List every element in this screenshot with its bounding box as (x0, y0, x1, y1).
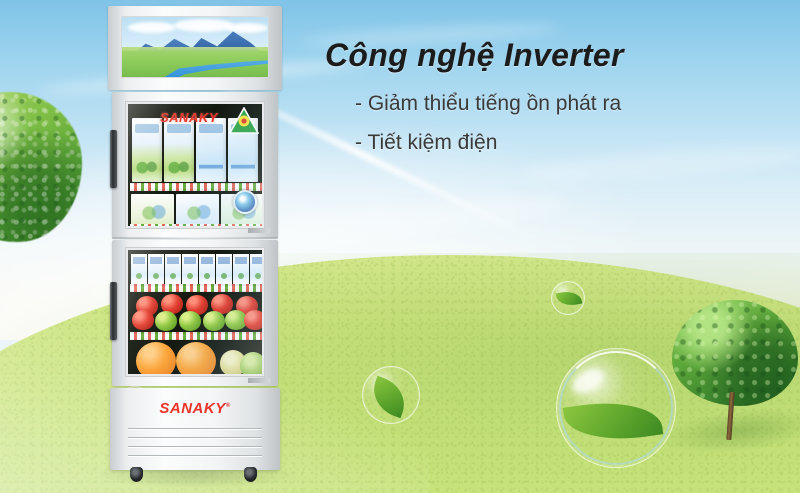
shelf-price-strip (130, 332, 264, 340)
model-label (248, 378, 270, 383)
broccoli (240, 352, 264, 376)
bubble-with-leaf-icon (551, 281, 585, 315)
upper-door-glass: SANAKY (126, 102, 264, 228)
yogurt-tray (131, 194, 174, 228)
shelf-price-strip (130, 284, 264, 292)
feature-item: - Giảm thiểu tiếng ồn phát ra (355, 93, 785, 114)
mini-milk-carton (131, 254, 147, 284)
mini-milk-carton (199, 254, 215, 284)
bubble-with-leaf-icon (362, 366, 420, 424)
vent-slot (128, 428, 262, 429)
green-apple (179, 311, 201, 331)
mini-milk-carton (216, 254, 232, 284)
mini-milk-carton (250, 254, 264, 284)
milk-carton (164, 118, 194, 182)
mini-milk-carton-row (131, 254, 264, 284)
caster-wheel (130, 467, 143, 482)
mini-milk-carton (165, 254, 181, 284)
door-handle[interactable] (110, 282, 117, 340)
milk-carton (196, 118, 226, 182)
vent-slot (128, 437, 262, 438)
ventilation-grille (128, 428, 262, 460)
sanaky-showcase-fridge: SANAKY (108, 6, 282, 482)
caster-wheel (244, 467, 257, 482)
glass-brand-decal: SANAKY (160, 110, 218, 125)
green-apple (155, 311, 177, 331)
orange-fruit (176, 342, 216, 376)
landscape-poster (121, 16, 269, 78)
tree-icon (672, 300, 798, 450)
tree-foliage-detail (0, 92, 82, 242)
mini-milk-carton (182, 254, 198, 284)
fridge-top-lightbox (108, 6, 282, 90)
registered-mark: ® (226, 403, 231, 409)
mini-milk-carton (148, 254, 164, 284)
lower-door-glass (126, 248, 264, 376)
product-banner: SANAKY (0, 0, 800, 493)
vent-slot (128, 455, 262, 456)
green-apple (203, 311, 225, 331)
lower-glass-door[interactable] (112, 240, 278, 386)
milk-carton (132, 118, 162, 182)
poster-cloud (128, 22, 176, 33)
feature-list: - Giảm thiểu tiếng ồn phát ra - Tiết kiệ… (355, 93, 785, 153)
door-handle[interactable] (110, 130, 117, 188)
yogurt-tray (176, 194, 219, 228)
poster-cloud (226, 23, 268, 33)
sanaky-logo: SANAKY® (110, 400, 280, 417)
green-triangle-sticker-icon (229, 107, 259, 134)
tree-icon (0, 92, 82, 252)
page-title: Công nghệ Inverter (325, 38, 785, 73)
red-apple (244, 310, 264, 330)
feature-item: - Tiết kiệm điện (355, 132, 785, 153)
red-apple (132, 310, 154, 330)
leaf-icon (367, 376, 412, 418)
shelf-price-strip (130, 224, 264, 228)
round-badge-sticker-icon (233, 190, 257, 214)
leaf-icon (556, 289, 583, 309)
mini-milk-carton (233, 254, 249, 284)
upper-glass-door[interactable]: SANAKY (112, 92, 278, 238)
vent-slot (128, 446, 262, 447)
sanaky-logo-text: SANAKY (159, 400, 225, 417)
cabinet-divider (112, 237, 278, 239)
bubble-with-leaf-icon (556, 348, 676, 468)
fridge-base-panel: SANAKY® (110, 388, 280, 470)
marketing-copy: Công nghệ Inverter - Giảm thiểu tiếng ồn… (325, 38, 785, 171)
poster-cloud (174, 19, 234, 32)
tree-foliage-detail (672, 300, 798, 406)
model-label (248, 228, 270, 233)
orange-fruit (136, 342, 176, 376)
